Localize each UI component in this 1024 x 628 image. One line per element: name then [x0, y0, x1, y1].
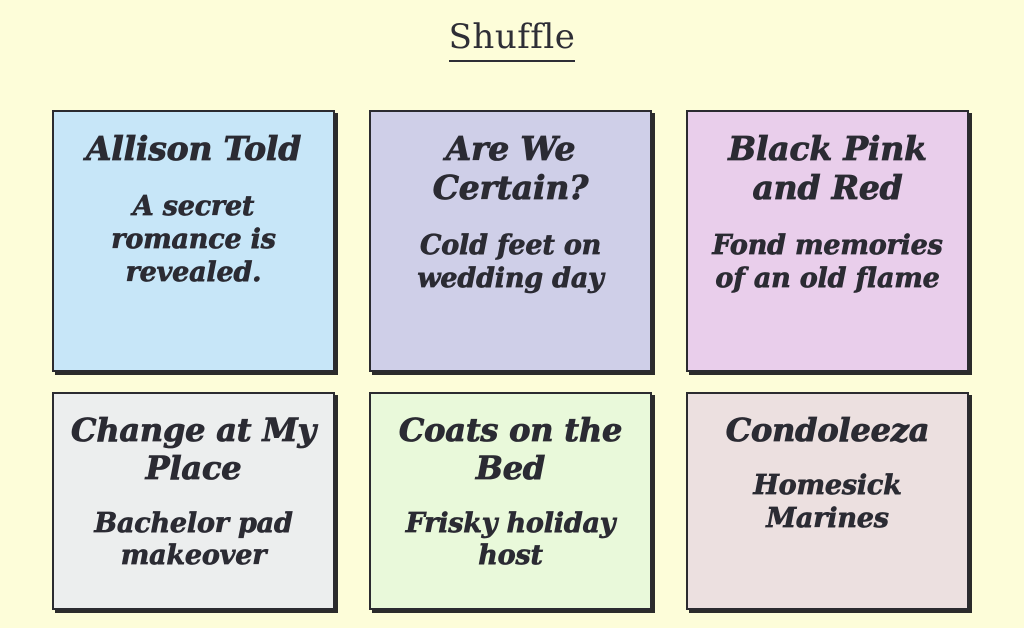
page-title-text: Shuffle — [449, 17, 576, 62]
card-3[interactable]: Black Pink and Red Fond memories of an o… — [686, 110, 969, 372]
card-6[interactable]: Condoleeza Homesick Marines — [686, 392, 969, 610]
card-2-body: Cold feet on wedding day — [383, 230, 638, 296]
card-4-title: Change at My Place — [66, 412, 321, 488]
card-3-title: Black Pink and Red — [700, 130, 955, 208]
card-6-title: Condoleeza — [726, 412, 930, 450]
card-4[interactable]: Change at My Place Bachelor pad makeover — [52, 392, 335, 610]
card-5-title: Coats on the Bed — [383, 412, 638, 488]
shuffle-board: Shuffle Allison Told A secret romance is… — [0, 0, 1024, 628]
card-2[interactable]: Are We Certain? Cold feet on wedding day — [369, 110, 652, 372]
card-3-body: Fond memories of an old flame — [700, 230, 955, 296]
card-grid: Allison Told A secret romance is reveale… — [52, 110, 970, 610]
card-5-body: Frisky holiday host — [383, 508, 638, 574]
card-5[interactable]: Coats on the Bed Frisky holiday host — [369, 392, 652, 610]
card-4-body: Bachelor pad makeover — [66, 508, 321, 574]
card-1[interactable]: Allison Told A secret romance is reveale… — [52, 110, 335, 372]
card-2-title: Are We Certain? — [383, 130, 638, 208]
card-1-title: Allison Told — [86, 130, 301, 169]
card-6-body: Homesick Marines — [700, 470, 955, 536]
card-1-body: A secret romance is revealed. — [66, 191, 321, 290]
page-title: Shuffle — [0, 0, 1024, 56]
